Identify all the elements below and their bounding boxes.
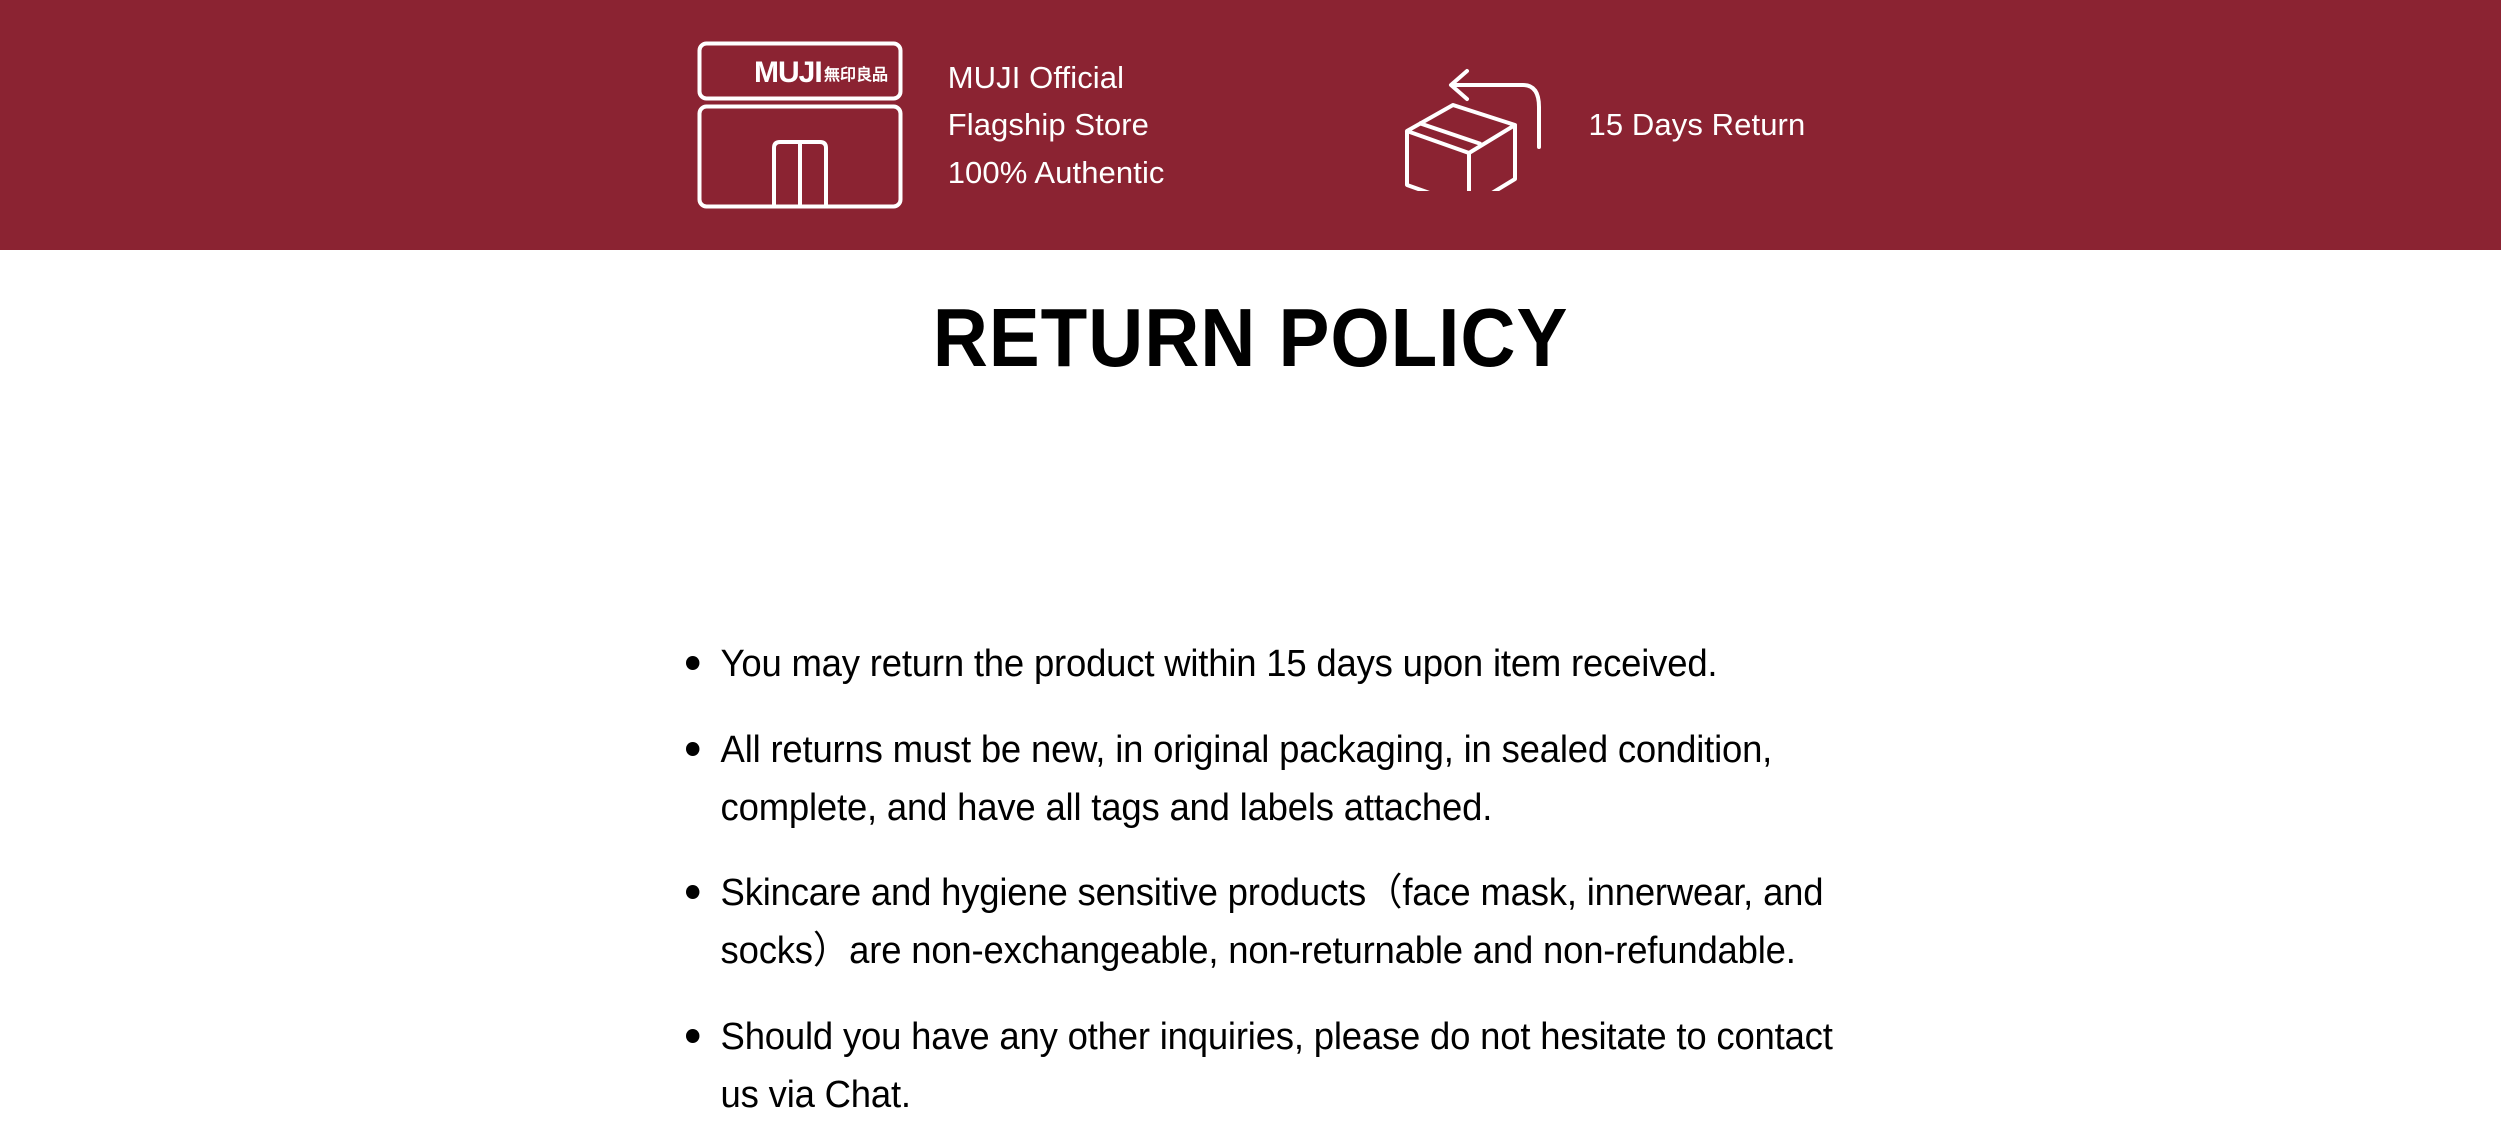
policy-section: RETURN POLICY You may return the product… — [0, 250, 2501, 876]
muji-storefront-icon: MUJI 無印良品 — [696, 40, 904, 210]
list-item: Skincare and hygiene sensitive products（… — [686, 865, 1838, 981]
return-badge: 15 Days Return — [1397, 59, 1806, 191]
bullet-icon — [686, 885, 699, 899]
store-line-3: 100% Authentic — [948, 149, 1165, 196]
policy-bullet-list: You may return the product within 15 day… — [686, 636, 1886, 1124]
bullet-icon — [686, 742, 699, 756]
page-title: RETURN POLICY — [100, 250, 2401, 379]
bullet-icon — [686, 656, 699, 670]
list-item: All returns must be new, in original pac… — [686, 722, 1838, 838]
policy-text: Should you have any other inquiries, ple… — [721, 1009, 1838, 1124]
muji-logo-text: MUJI — [754, 56, 822, 89]
return-box-icon — [1397, 59, 1557, 191]
list-item: Should you have any other inquiries, ple… — [686, 1009, 1838, 1124]
bullet-icon — [686, 1029, 699, 1043]
official-store-text: MUJI Official Flagship Store 100% Authen… — [948, 54, 1165, 195]
policy-text: All returns must be new, in original pac… — [721, 722, 1838, 838]
policy-text: You may return the product within 15 day… — [721, 636, 1838, 694]
promo-banner: MUJI 無印良品 MUJI Official Flagship Store 1… — [0, 0, 2501, 250]
list-item: You may return the product within 15 day… — [686, 636, 1838, 694]
store-line-1: MUJI Official — [948, 54, 1165, 101]
return-badge-label: 15 Days Return — [1589, 103, 1806, 146]
policy-text: Skincare and hygiene sensitive products（… — [721, 865, 1838, 981]
banner-content: MUJI 無印良品 MUJI Official Flagship Store 1… — [0, 0, 2501, 250]
muji-logo-jp-text: 無印良品 — [824, 65, 888, 84]
official-store-badge: MUJI 無印良品 MUJI Official Flagship Store 1… — [696, 40, 1165, 210]
store-line-2: Flagship Store — [948, 101, 1165, 148]
